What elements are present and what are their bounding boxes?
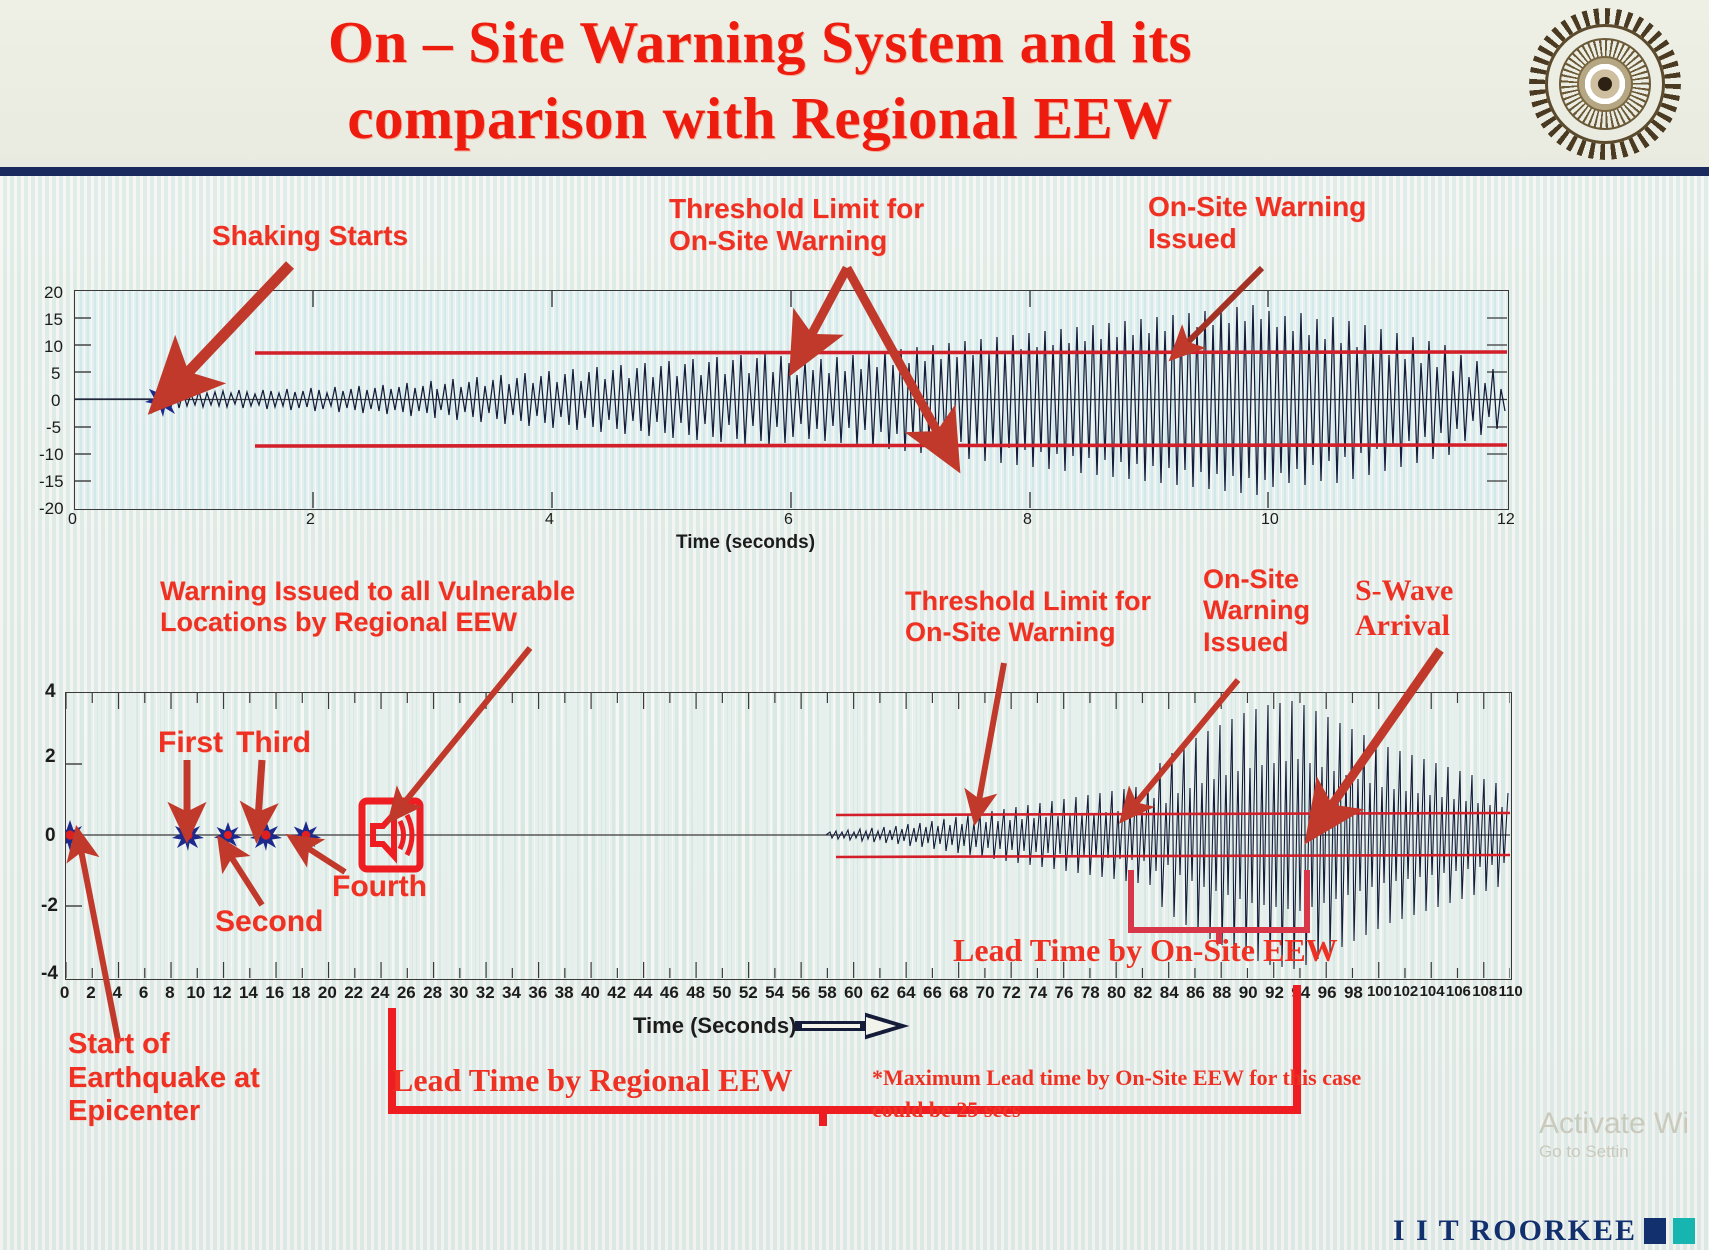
chart2-x-tick-110: 110 (1499, 983, 1523, 1000)
chart2-x-tick-50: 50 (713, 983, 732, 1003)
windows-activation-watermark: Activate Wi Go to Settin (1539, 1106, 1689, 1162)
chart2-x-tick-22: 22 (344, 983, 363, 1003)
annotation-regional-warning: Warning Issued to all Vulnerable Locatio… (160, 576, 575, 639)
chart2-x-tick-42: 42 (607, 983, 626, 1003)
chart2-x-tick-0: 0 (60, 983, 69, 1003)
slide-header: On – Site Warning System and its compari… (0, 0, 1709, 176)
chart2-x-tick-26: 26 (397, 983, 416, 1003)
chart2-x-tick-104: 104 (1420, 983, 1445, 1000)
chart2-x-tick-88: 88 (1212, 983, 1231, 1003)
chart2-x-axis-title: Time (Seconds) (633, 1013, 796, 1039)
chart2-x-tick-70: 70 (976, 983, 995, 1003)
annotation-third: Third (236, 726, 311, 761)
chart2-x-tick-100: 100 (1367, 983, 1392, 1000)
page-title: On – Site Warning System and its compari… (130, 4, 1390, 156)
chart2-x-tick-4: 4 (113, 983, 122, 1003)
iit-roorkee-emblem-icon (1529, 8, 1681, 160)
chart2-x-tick-74: 74 (1028, 983, 1047, 1003)
chart2-x-tick-8: 8 (165, 983, 174, 1003)
brand-square-navy (1644, 1218, 1666, 1244)
chart2-x-tick-68: 68 (949, 983, 968, 1003)
chart2-x-tick-28: 28 (423, 983, 442, 1003)
chart2-x-tick-30: 30 (449, 983, 468, 1003)
threshold-lower-line (255, 445, 1507, 446)
page-title-line1: On – Site Warning System and its (130, 4, 1390, 80)
chart2-x-tick-76: 76 (1055, 983, 1074, 1003)
chart2-x-tick-10: 10 (186, 983, 205, 1003)
chart1-x-axis-title: Time (seconds) (676, 532, 815, 554)
chart2-x-tick-6: 6 (139, 983, 148, 1003)
chart2-x-tick-38: 38 (555, 983, 574, 1003)
slide-canvas: On – Site Warning System and its compari… (0, 0, 1709, 1250)
chart2-x-tick-14: 14 (239, 983, 258, 1003)
chart2-x-tick-94: 94 (1291, 983, 1310, 1003)
chart2-x-tick-12: 12 (213, 983, 232, 1003)
chart2-x-tick-108: 108 (1472, 983, 1497, 1000)
chart2-x-tick-72: 72 (1002, 983, 1021, 1003)
chart2-x-tick-62: 62 (870, 983, 889, 1003)
chart2-x-tick-82: 82 (1133, 983, 1152, 1003)
annotation-start-of-earthquake: Start of Earthquake at Epicenter (68, 1028, 260, 1129)
annotation-shaking-starts: Shaking Starts (212, 220, 408, 252)
annotation-onsite-warning-issued-top: On-Site Warning Issued (1148, 191, 1366, 256)
chart2-x-tick-98: 98 (1344, 983, 1363, 1003)
chart2-x-tick-18: 18 (292, 983, 311, 1003)
chart2-x-tick-34: 34 (502, 983, 521, 1003)
chart2-x-tick-24: 24 (371, 983, 390, 1003)
annotation-second: Second (215, 905, 323, 940)
chart2-x-tick-96: 96 (1318, 983, 1337, 1003)
chart2-x-tick-66: 66 (923, 983, 942, 1003)
annotation-s-wave-arrival: S-Wave Arrival (1355, 574, 1453, 644)
annotation-onsite-warning-issued-bottom: On-Site Warning Issued (1203, 564, 1310, 658)
chart2-x-tick-86: 86 (1186, 983, 1205, 1003)
chart2-x-tick-102: 102 (1393, 983, 1418, 1000)
chart2-x-tick-92: 92 (1265, 983, 1284, 1003)
annotation-threshold-limit-bottom: Threshold Limit for On-Site Warning (905, 586, 1151, 649)
page-title-line2: comparison with Regional EEW (130, 80, 1390, 156)
iit-roorkee-footer-brand: I I T ROORKEE (1393, 1214, 1695, 1248)
annotation-threshold-limit-top: Threshold Limit for On-Site Warning (669, 193, 924, 258)
chart1-plot (75, 291, 1507, 508)
annotation-fourth: Fourth (332, 870, 427, 905)
chart2-x-tick-48: 48 (686, 983, 705, 1003)
chart2-x-tick-84: 84 (1160, 983, 1179, 1003)
chart2-x-tick-58: 58 (818, 983, 837, 1003)
chart2-x-tick-54: 54 (765, 983, 784, 1003)
chart2-x-tick-46: 46 (660, 983, 679, 1003)
chart2-x-tick-106: 106 (1446, 983, 1471, 1000)
chart2-x-tick-20: 20 (318, 983, 337, 1003)
annotation-lead-time-regional: Lead Time by Regional EEW (392, 1062, 793, 1099)
chart2-x-tick-40: 40 (581, 983, 600, 1003)
chart2-x-tick-64: 64 (897, 983, 916, 1003)
chart2-x-tick-56: 56 (791, 983, 810, 1003)
chart2-x-tick-78: 78 (1081, 983, 1100, 1003)
annotation-footnote: *Maximum Lead time by On-Site EEW for th… (872, 1062, 1361, 1126)
top-accelerogram-chart (74, 290, 1509, 510)
threshold-upper-line (255, 352, 1507, 353)
annotation-lead-time-onsite: Lead Time by On-Site EEW (953, 932, 1338, 969)
chart2-x-tick-80: 80 (1107, 983, 1126, 1003)
chart2-x-tick-90: 90 (1239, 983, 1258, 1003)
chart2-x-tick-36: 36 (528, 983, 547, 1003)
annotation-first: First (158, 726, 223, 761)
chart2-x-tick-44: 44 (634, 983, 653, 1003)
threshold-upper-line-2 (836, 813, 1510, 815)
brand-square-teal (1673, 1218, 1695, 1244)
chart2-x-tick-2: 2 (86, 983, 95, 1003)
chart2-x-tick-16: 16 (265, 983, 284, 1003)
chart2-x-tick-60: 60 (844, 983, 863, 1003)
regional-eew-broadcast-icon (362, 801, 420, 869)
chart2-x-tick-32: 32 (476, 983, 495, 1003)
chart2-x-tick-52: 52 (739, 983, 758, 1003)
